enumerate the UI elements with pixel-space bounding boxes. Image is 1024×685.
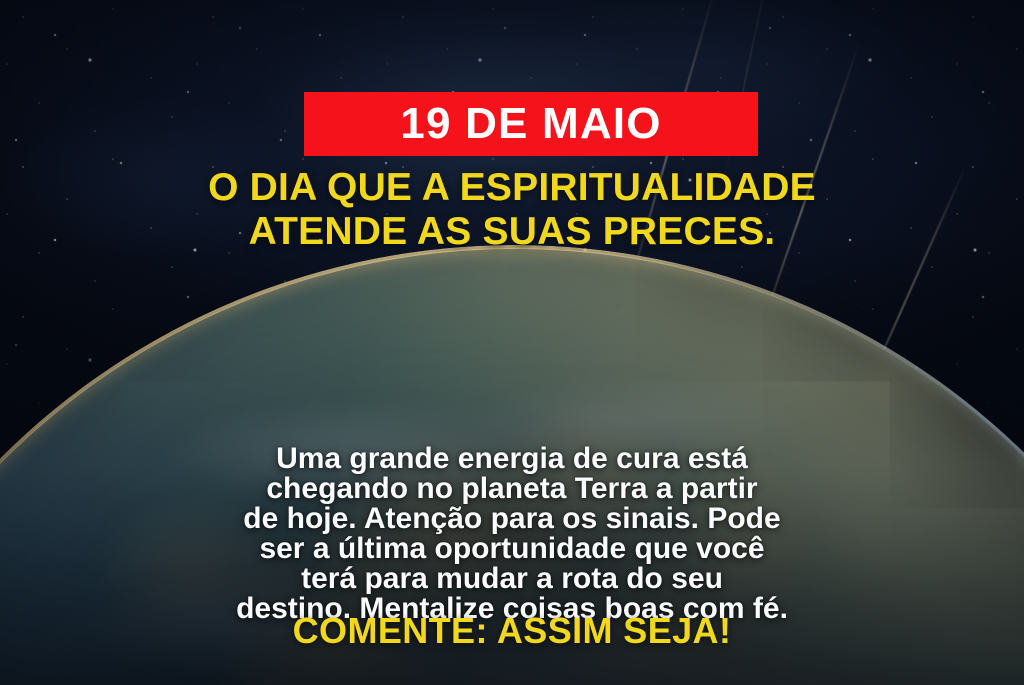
headline-line-2: ATENDE AS SUAS PRECES. [0,210,1024,254]
headline-line-1: O DIA QUE A ESPIRITUALIDADE [0,166,1024,210]
date-banner: 19 DE MAIO [304,92,758,156]
body-line-2: chegando no planeta Terra a partir [0,474,1024,504]
headline: O DIA QUE A ESPIRITUALIDADE ATENDE AS SU… [0,166,1024,254]
body-line-1: Uma grande energia de cura está [0,444,1024,474]
body-line-3: de hoje. Atenção para os sinais. Pode [0,504,1024,534]
date-banner-text: 19 DE MAIO [400,102,661,146]
body-line-5: terá para mudar a rota do seu [0,564,1024,594]
body-line-4: ser a última oportunidade que você [0,534,1024,564]
body-paragraph: Uma grande energia de cura está chegando… [0,444,1024,624]
poster-canvas: 19 DE MAIO O DIA QUE A ESPIRITUALIDADE A… [0,0,1024,685]
poster-content: 19 DE MAIO O DIA QUE A ESPIRITUALIDADE A… [0,0,1024,685]
call-to-action-text: COMENTE: ASSIM SEJA! [0,613,1024,649]
